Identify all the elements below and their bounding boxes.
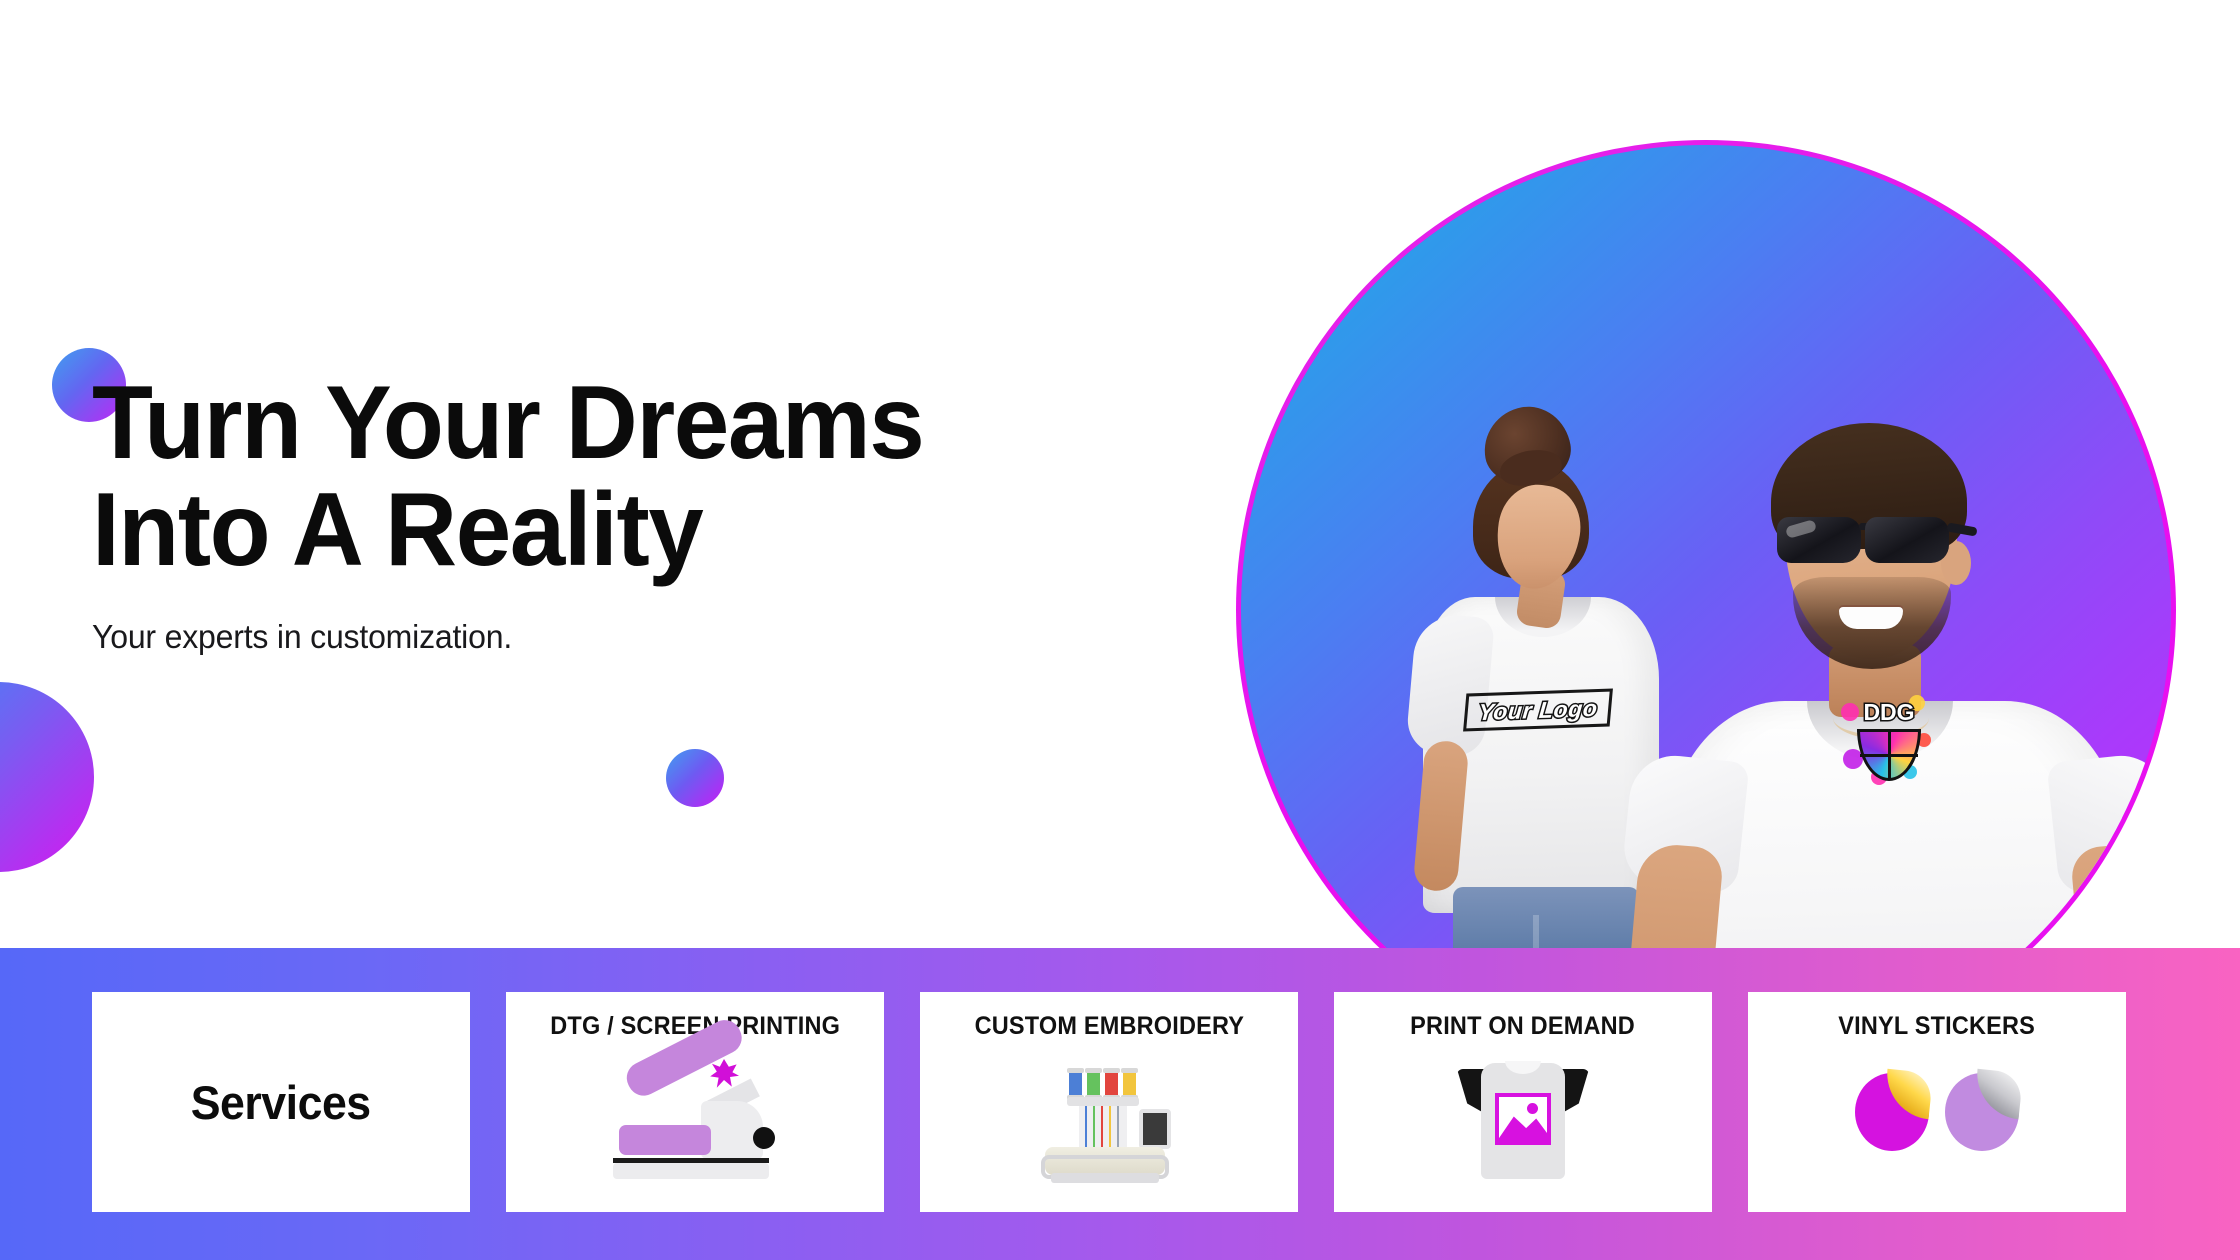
heat-press-knob bbox=[753, 1127, 775, 1149]
tshirt-print-icon bbox=[1433, 1055, 1613, 1185]
embroidery-machine-icon bbox=[1019, 1055, 1199, 1185]
decorative-circle-large-left bbox=[0, 682, 94, 872]
hero-image-circle: Your Logo bbox=[1236, 140, 2176, 1080]
vinyl-sticker-icon bbox=[1847, 1055, 2027, 1185]
services-bar: Services DTG / SCREEN PRINTING CUSTOM EM… bbox=[0, 948, 2240, 1260]
woman-sleeve-left bbox=[1405, 612, 1495, 758]
services-card-list: Services DTG / SCREEN PRINTING CUSTOM EM… bbox=[92, 992, 2126, 1212]
sticker-magenta bbox=[1855, 1073, 1929, 1151]
hero-subheadline: Your experts in customization. bbox=[92, 618, 932, 656]
ddg-wordmark: DDG bbox=[1849, 697, 1929, 727]
woman-shirt-print-frame: Your Logo bbox=[1463, 688, 1613, 731]
headline-line-1: Turn Your Dreams bbox=[92, 370, 923, 477]
sunglasses-lens-left bbox=[1777, 517, 1861, 563]
hero-photo-couple: Your Logo bbox=[1241, 145, 2171, 1075]
hero-copy: Turn Your Dreams Into A Reality Your exp… bbox=[92, 370, 958, 656]
page-title: Turn Your Dreams Into A Reality bbox=[92, 370, 923, 584]
thread-spool-green bbox=[1087, 1071, 1100, 1097]
embroidery-spool-rack bbox=[1067, 1097, 1139, 1106]
hero-page: Turn Your Dreams Into A Reality Your exp… bbox=[0, 0, 2240, 1260]
thread-spool-blue bbox=[1069, 1071, 1082, 1097]
hero-circle-gradient: Your Logo bbox=[1241, 145, 2171, 1075]
service-card-print-on-demand[interactable]: PRINT ON DEMAND bbox=[1334, 992, 1712, 1212]
woman-shirt-print-text: Your Logo bbox=[1477, 694, 1598, 725]
ddg-logo: DDG bbox=[1845, 693, 1933, 785]
heat-press-lower-platen bbox=[619, 1125, 711, 1155]
mountain-icon bbox=[1497, 1107, 1551, 1141]
man-smile bbox=[1839, 607, 1903, 629]
sunglasses-lens-right bbox=[1865, 517, 1949, 563]
embroidery-control-screen bbox=[1139, 1109, 1171, 1149]
vinyl-sticker-pair bbox=[1853, 1069, 2021, 1169]
decorative-circle-mid bbox=[666, 749, 724, 807]
service-card-custom-embroidery[interactable]: CUSTOM EMBROIDERY bbox=[920, 992, 1298, 1212]
service-card-title: PRINT ON DEMAND bbox=[1411, 1012, 1636, 1041]
service-card-dtg-screen-printing[interactable]: DTG / SCREEN PRINTING bbox=[506, 992, 884, 1212]
image-placeholder-icon bbox=[1495, 1093, 1551, 1145]
sunglasses-icon bbox=[1777, 513, 1967, 565]
sun-icon bbox=[1527, 1103, 1538, 1114]
sticker-lilac bbox=[1945, 1073, 2019, 1151]
embroidery-threads bbox=[1081, 1106, 1125, 1152]
heat-press-icon bbox=[605, 1055, 785, 1185]
embroidery-base bbox=[1051, 1173, 1159, 1183]
heat-press-base bbox=[613, 1163, 769, 1179]
services-section-label: Services bbox=[191, 1075, 371, 1130]
service-card-vinyl-stickers[interactable]: VINYL STICKERS bbox=[1748, 992, 2126, 1212]
headline-line-2: Into A Reality bbox=[92, 477, 923, 584]
thread-spool-yellow bbox=[1123, 1071, 1136, 1097]
service-card-title: CUSTOM EMBROIDERY bbox=[974, 1012, 1244, 1041]
thread-spool-red bbox=[1105, 1071, 1118, 1097]
sunglasses-temple bbox=[1946, 522, 1977, 536]
services-section-card: Services bbox=[92, 992, 470, 1212]
embroidery-machine-body bbox=[1045, 1057, 1173, 1181]
tshirt-graphic bbox=[1459, 1055, 1587, 1183]
ink-splash-icon bbox=[709, 1059, 739, 1089]
service-card-title: VINYL STICKERS bbox=[1839, 1012, 2036, 1041]
